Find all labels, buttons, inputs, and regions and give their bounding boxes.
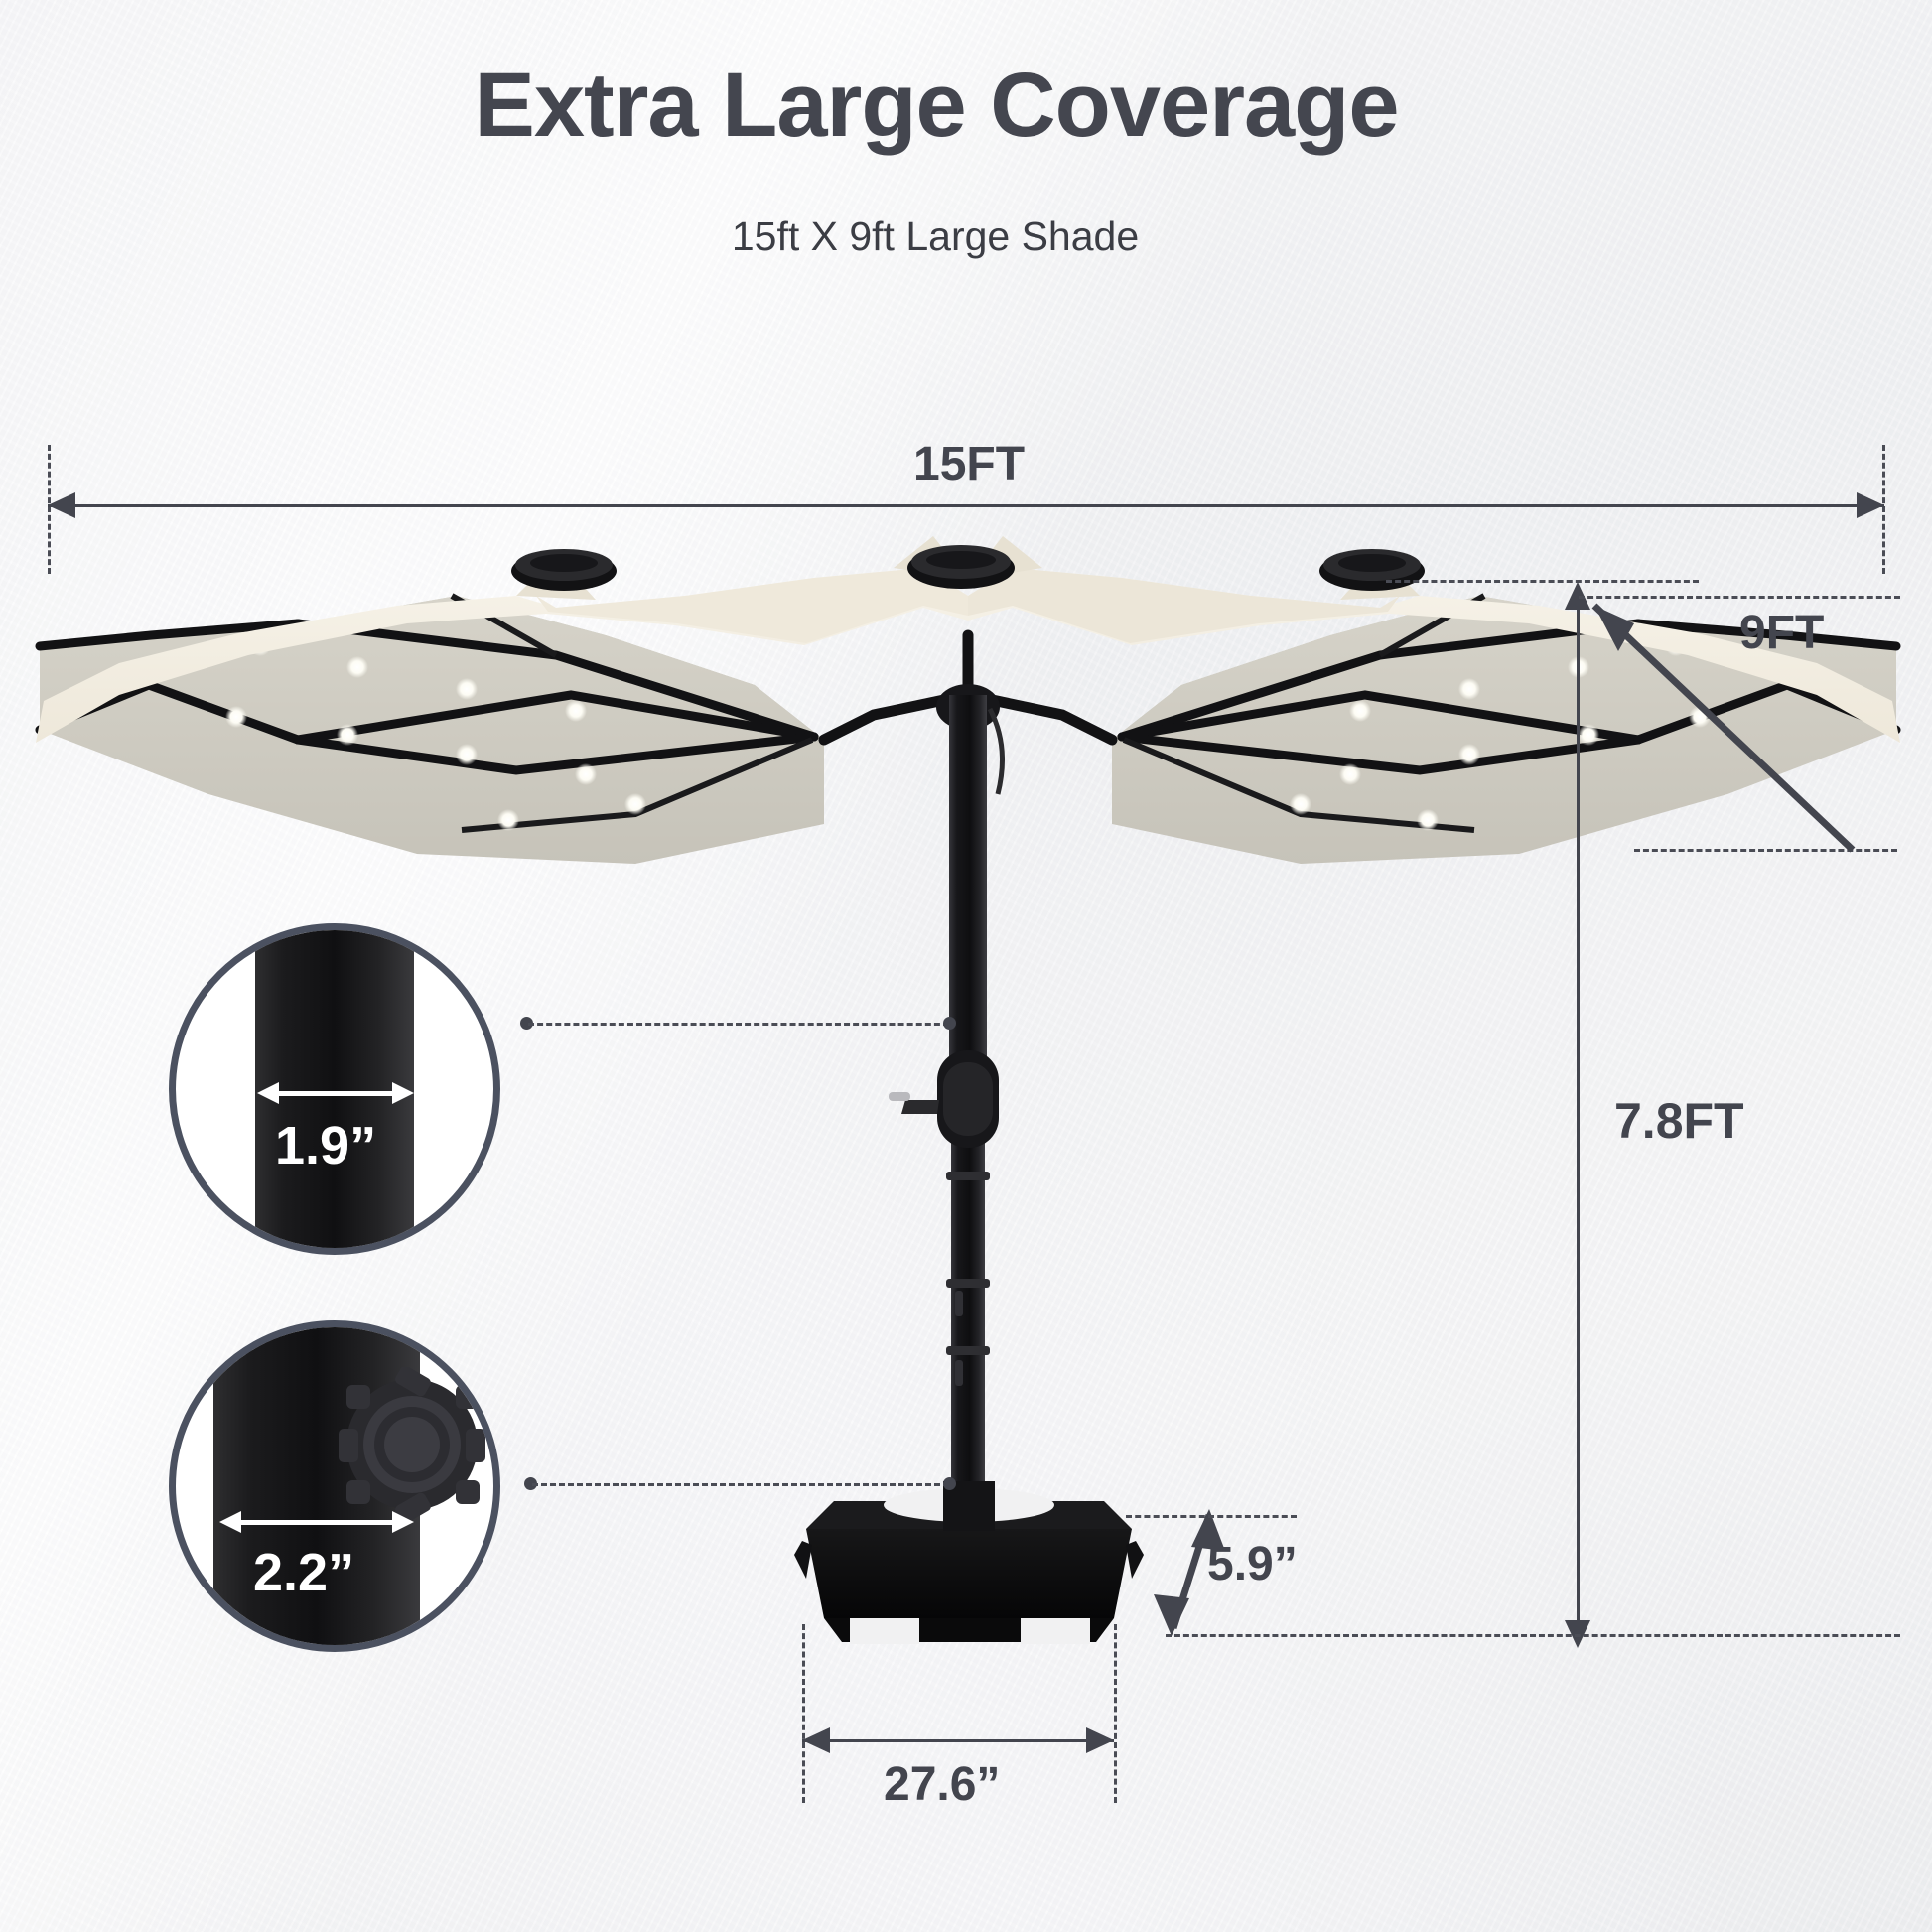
- callout-pole-diameter: 1.9”: [169, 923, 500, 1255]
- height-dimension-label: 7.8FT: [1614, 1092, 1744, 1150]
- leader-dot-upper-right: [943, 1017, 956, 1030]
- height-dimension-line: [1577, 596, 1580, 1634]
- width-dimension-line: [48, 504, 1884, 507]
- base-width-dimension-line: [802, 1739, 1114, 1742]
- pole-section: [255, 923, 414, 1255]
- umbrella-base: [794, 1481, 1144, 1644]
- knob-diameter-line: [237, 1520, 394, 1525]
- base-height-label: 5.9”: [1207, 1537, 1298, 1591]
- knob-diameter-arrow-left-icon: [219, 1511, 241, 1533]
- base-width-left-extension: [802, 1624, 805, 1803]
- leader-line-knob-diameter: [532, 1483, 949, 1486]
- callout-knob-diameter: 2.2”: [169, 1320, 500, 1652]
- width-arrow-left-icon: [48, 492, 75, 518]
- depth-dimension-arrow: [1549, 556, 1932, 874]
- pole-diameter-arrow-left-icon: [257, 1082, 279, 1104]
- base-width-arrow-right-icon: [1086, 1727, 1114, 1753]
- width-dimension-label: 15FT: [913, 437, 1025, 491]
- pole-diameter-arrow-right-icon: [392, 1082, 414, 1104]
- base-width-label: 27.6”: [884, 1757, 1000, 1812]
- pole-diameter-line: [275, 1091, 394, 1096]
- crank-handle: [889, 1050, 999, 1148]
- base-width-arrow-left-icon: [802, 1727, 830, 1753]
- infographic-canvas: Extra Large Coverage 15ft X 9ft Large Sh…: [0, 0, 1932, 1932]
- base-width-right-extension: [1114, 1624, 1117, 1803]
- solar-led-light: [511, 545, 1425, 591]
- knob-diameter-label: 2.2”: [253, 1542, 354, 1603]
- depth-dimension-label: 9FT: [1739, 606, 1824, 660]
- knob-diameter-arrow-right-icon: [392, 1511, 414, 1533]
- leader-dot-lower-right: [943, 1477, 956, 1490]
- width-arrow-right-icon: [1857, 492, 1884, 518]
- pole-diameter-label: 1.9”: [275, 1115, 376, 1176]
- base-height-top-extension-line: [1126, 1515, 1297, 1518]
- height-top-extension-line: [1579, 596, 1900, 599]
- leader-line-pole-diameter: [528, 1023, 949, 1026]
